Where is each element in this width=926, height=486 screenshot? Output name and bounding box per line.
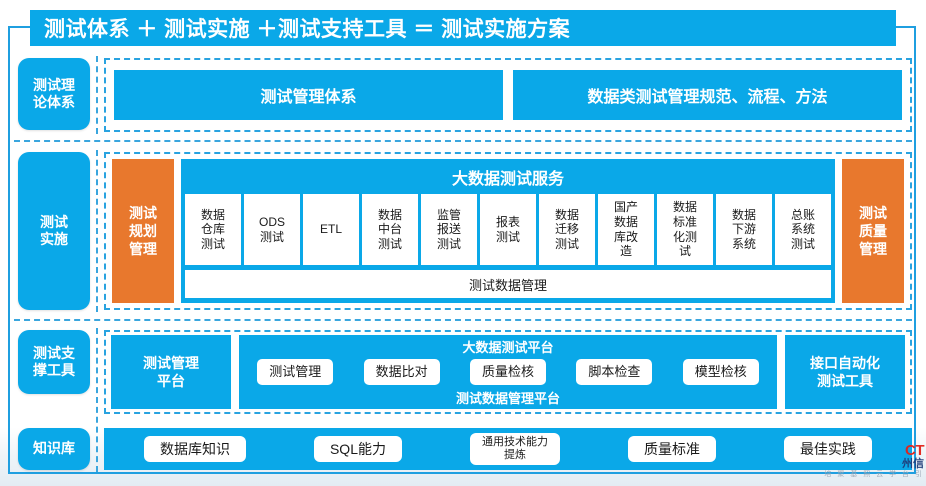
theory-box-management-system[interactable]: 测试管理体系 [114,70,503,120]
page-title: 测试体系 ＋ 测试实施 ＋测试支持工具 ＝ 测试实施方案 [44,13,570,43]
vertical-divider-theory [96,56,98,134]
theory-box-data-test-standards[interactable]: 数据类测试管理规范、流程、方法 [513,70,902,120]
impl-box-test-quality-management-label: 测试 质量 管理 [859,204,887,259]
service-cell[interactable]: 报表 测试 [480,194,536,265]
big-data-test-service-title: 大数据测试服务 [185,162,831,194]
implementation-row-group: 测试 规划 管理 大数据测试服务 数据 仓库 测试 ODS 测试 ETL 数据 … [104,152,912,310]
service-cell[interactable]: 总账 系统 测试 [775,194,831,265]
platform-tool-pill[interactable]: 质量检核 [470,359,546,385]
big-data-test-platform-panel: 大数据测试平台 测试管理 数据比对 质量检核 脚本检查 模型检核 测试数据管理平… [239,335,777,409]
sidebar-label-support-tools-text: 测试支 撑工具 [33,345,75,380]
service-cell[interactable]: 数据 仓库 测试 [185,194,241,265]
platform-tool-pill[interactable]: 数据比对 [364,359,440,385]
test-data-management-bar[interactable]: 测试数据管理 [185,270,831,298]
knowledge-pill[interactable]: 通用技术能力 提炼 [470,433,560,464]
sidebar-label-implementation[interactable]: 测试 实施 [18,152,90,310]
service-cell[interactable]: 数据 标准 化测 试 [657,194,713,265]
knowledge-base-panel: 数据库知识 SQL能力 通用技术能力 提炼 质量标准 最佳实践 [104,428,912,470]
test-data-management-platform-title: 测试数据管理平台 [245,388,771,407]
knowledge-pill[interactable]: 质量标准 [628,436,716,462]
theory-box-management-system-label: 测试管理体系 [260,83,356,107]
sidebar-label-theory[interactable]: 测试理 论体系 [18,58,90,130]
impl-box-test-planning-management-label: 测试 规划 管理 [129,204,157,259]
service-cell[interactable]: 数据 下游 系统 [716,194,772,265]
sidebar-label-knowledge-base[interactable]: 知识库 [18,428,90,470]
service-cell[interactable]: ODS 测试 [244,194,300,265]
support-box-api-automation-tool-label: 接口自动化 测试工具 [810,354,880,390]
big-data-test-service-cells: 数据 仓库 测试 ODS 测试 ETL 数据 中台 测试 监管 报送 测试 报表… [185,194,831,265]
row-separator-1 [14,140,912,142]
platform-tool-pill[interactable]: 脚本检查 [576,359,652,385]
service-cell[interactable]: 数据 迁移 测试 [539,194,595,265]
row-separator-2 [14,319,912,321]
impl-box-test-quality-management[interactable]: 测试 质量 管理 [842,159,904,303]
sidebar-label-theory-text: 测试理 论体系 [33,77,75,112]
theory-box-data-test-standards-label: 数据类测试管理规范、流程、方法 [587,83,827,107]
support-row-group: 测试管理 平台 大数据测试平台 测试管理 数据比对 质量检核 脚本检查 模型检核… [104,330,912,414]
platform-tool-pill[interactable]: 测试管理 [257,359,333,385]
service-cell[interactable]: 国产 数据 库改 造 [598,194,654,265]
impl-box-test-planning-management[interactable]: 测试 规划 管理 [112,159,174,303]
support-box-api-automation-tool[interactable]: 接口自动化 测试工具 [785,335,905,409]
service-cell[interactable]: ETL [303,194,359,265]
watermark-tiny-text: 培 聚 基 照 云 学 台 引 [824,471,924,478]
big-data-test-platform-title: 大数据测试平台 [245,337,771,356]
sidebar-label-knowledge-base-text: 知识库 [33,440,75,458]
sidebar-label-support-tools[interactable]: 测试支 撑工具 [18,330,90,394]
diagram-canvas: 测试体系 ＋ 测试实施 ＋测试支持工具 ＝ 测试实施方案 测试理 论体系 测试管… [0,0,926,486]
service-cell[interactable]: 数据 中台 测试 [362,194,418,265]
platform-tool-pill-row: 测试管理 数据比对 质量检核 脚本检查 模型检核 [245,356,771,388]
service-cell[interactable]: 监管 报送 测试 [421,194,477,265]
vertical-divider-support [96,328,98,472]
support-box-test-management-platform-label: 测试管理 平台 [143,354,199,390]
platform-tool-pill[interactable]: 模型检核 [683,359,759,385]
knowledge-pill[interactable]: 最佳实践 [784,436,872,462]
vertical-divider-impl [96,150,98,312]
knowledge-pill[interactable]: SQL能力 [314,436,402,462]
big-data-test-service-panel: 大数据测试服务 数据 仓库 测试 ODS 测试 ETL 数据 中台 测试 监管 … [181,159,835,303]
knowledge-pill[interactable]: 数据库知识 [144,436,246,462]
page-title-banner: 测试体系 ＋ 测试实施 ＋测试支持工具 ＝ 测试实施方案 [30,10,896,46]
sidebar-label-implementation-text: 测试 实施 [40,214,68,249]
theory-row-group: 测试管理体系 数据类测试管理规范、流程、方法 [104,58,912,132]
support-box-test-management-platform[interactable]: 测试管理 平台 [111,335,231,409]
